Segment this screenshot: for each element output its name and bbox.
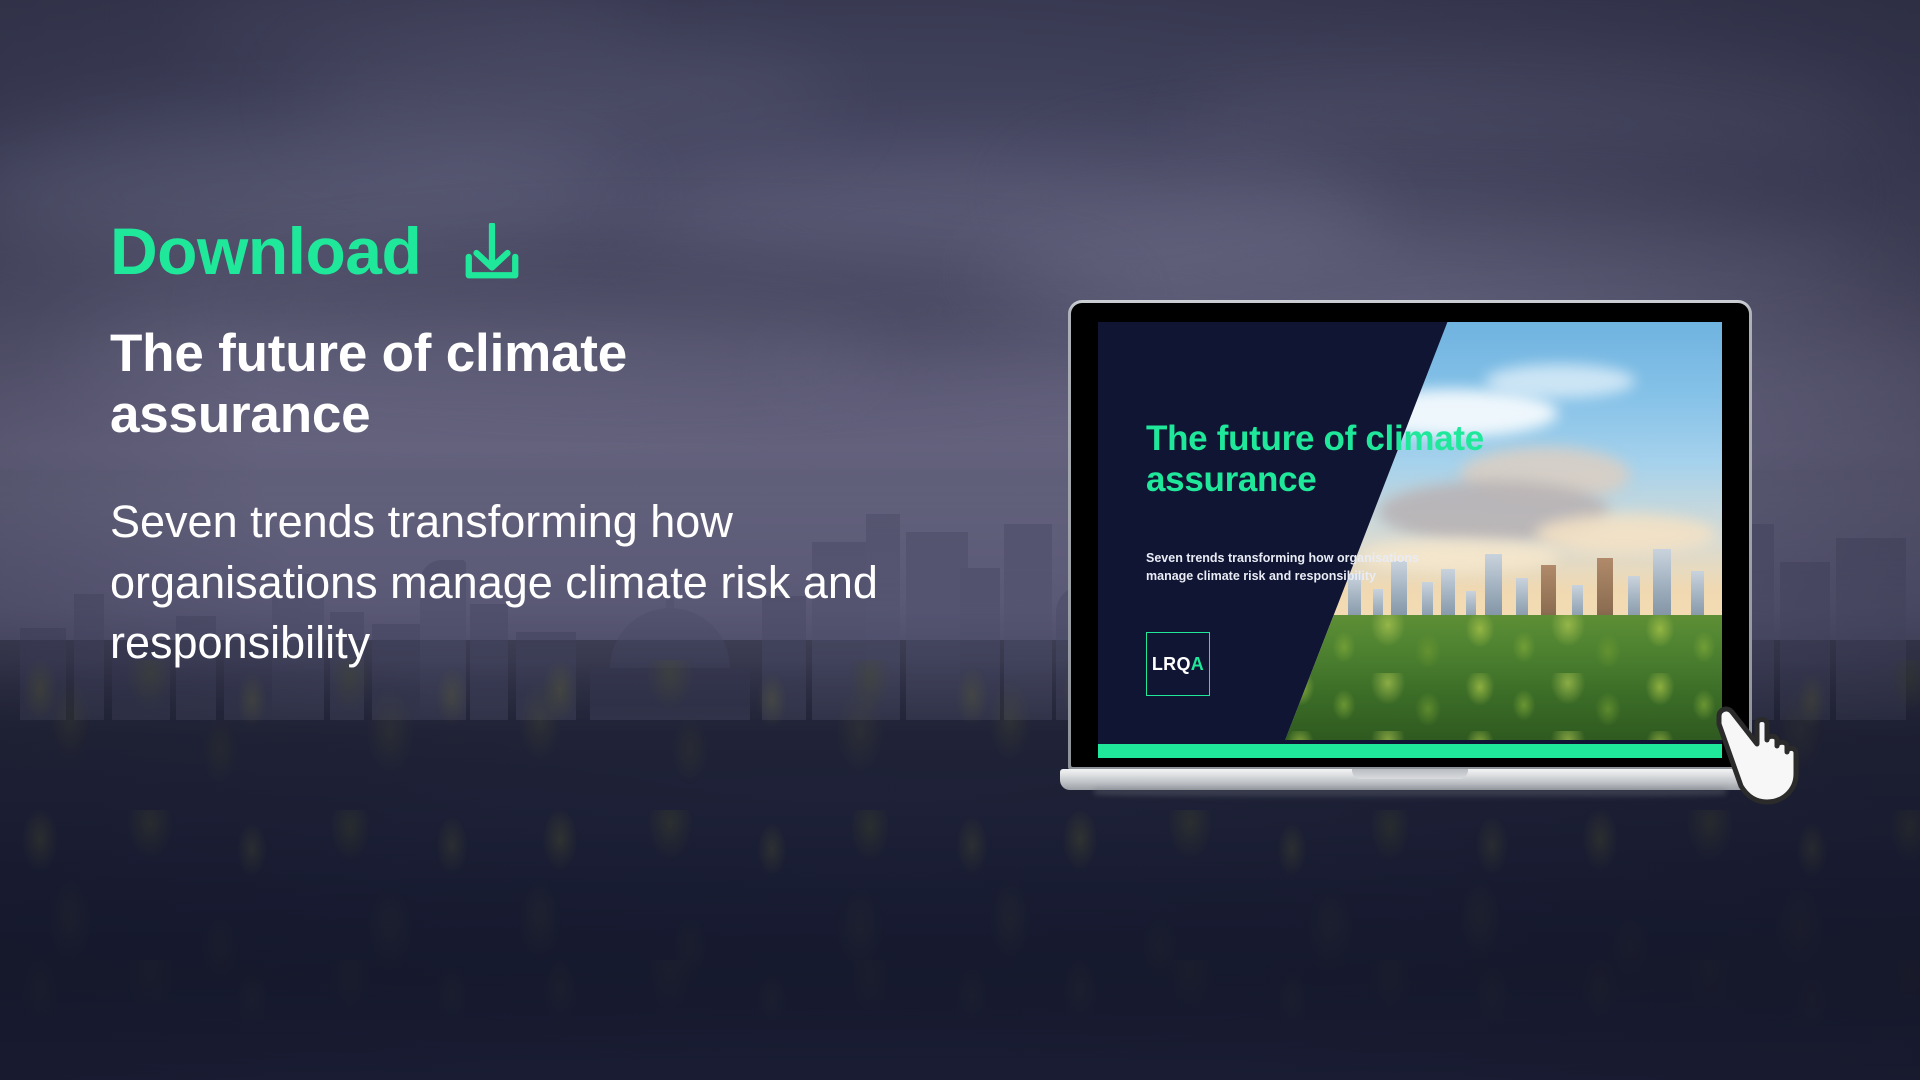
download-label: Download — [110, 218, 421, 284]
lrqa-logo-text: LRQ — [1152, 654, 1191, 675]
slide-title: The future of climate assurance — [1146, 418, 1486, 501]
lrqa-logo-accent: A — [1191, 654, 1204, 675]
accent-bar — [1098, 744, 1722, 758]
page-title: The future of climate assurance — [110, 324, 750, 446]
download-cta[interactable]: Download — [110, 218, 990, 284]
lrqa-logo: LRQA — [1146, 632, 1210, 696]
promo-subtitle: Seven trends transforming how organisati… — [110, 492, 970, 674]
laptop-mockup: The future of climate assurance Seven tr… — [1060, 300, 1760, 799]
ebook-cover-slide: The future of climate assurance Seven tr… — [1098, 322, 1722, 758]
promo-banner: Download The future of climate assurance… — [0, 0, 1920, 1080]
laptop-base-notch — [1352, 769, 1468, 779]
laptop-screen[interactable]: The future of climate assurance Seven tr… — [1098, 322, 1722, 758]
download-icon[interactable] — [461, 223, 523, 283]
slide-subtitle: Seven trends transforming how organisati… — [1146, 550, 1446, 586]
laptop-lid: The future of climate assurance Seven tr… — [1068, 300, 1752, 770]
promo-copy: Download The future of climate assurance… — [110, 218, 990, 674]
laptop-base — [1060, 769, 1760, 799]
hand-pointer-cursor — [1705, 690, 1815, 808]
